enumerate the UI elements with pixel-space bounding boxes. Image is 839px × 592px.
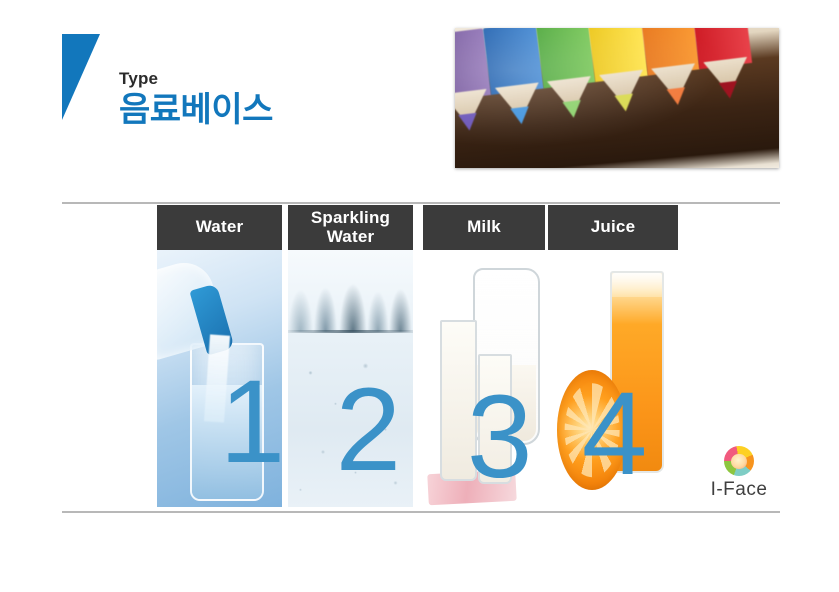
page-title: 음료베이스 bbox=[119, 90, 399, 130]
column-juice[interactable]: Juice 4 bbox=[548, 205, 678, 511]
column-milk[interactable]: Milk 3 bbox=[423, 205, 545, 511]
table-top-rule bbox=[62, 202, 780, 204]
orange-juice-illustration bbox=[548, 250, 678, 511]
title-texts: Type 음료베이스 bbox=[119, 70, 399, 130]
slide-title-block: Type 음료베이스 bbox=[62, 24, 402, 144]
column-water[interactable]: Water 1 bbox=[157, 205, 282, 507]
column-header-line2: Water bbox=[327, 227, 375, 246]
column-header-milk: Milk bbox=[423, 205, 545, 250]
triangle-right-icon bbox=[62, 34, 100, 120]
column-header-juice: Juice bbox=[548, 205, 678, 250]
colored-pencils-photo bbox=[455, 28, 779, 168]
column-header-sparkling-water: Sparkling Water bbox=[288, 205, 413, 250]
table-bottom-rule bbox=[62, 511, 780, 513]
sparkling-water-illustration bbox=[288, 250, 413, 507]
column-photo-juice: 4 bbox=[548, 250, 678, 511]
column-photo-milk: 3 bbox=[423, 250, 545, 511]
photo-highlight bbox=[455, 28, 779, 168]
column-photo-water: 1 bbox=[157, 250, 282, 507]
iface-logo: I-Face bbox=[703, 446, 775, 510]
iface-logo-text: I-Face bbox=[703, 479, 775, 501]
column-header-water: Water bbox=[157, 205, 282, 250]
water-pouring-illustration bbox=[157, 250, 282, 507]
title-eyebrow: Type bbox=[119, 70, 399, 88]
column-photo-sparkling-water: 2 bbox=[288, 250, 413, 507]
milk-illustration bbox=[423, 250, 545, 511]
column-header-line1: Sparkling bbox=[311, 208, 390, 227]
iface-colorful-face-icon bbox=[724, 446, 754, 476]
column-sparkling-water[interactable]: Sparkling Water 2 bbox=[288, 205, 413, 507]
